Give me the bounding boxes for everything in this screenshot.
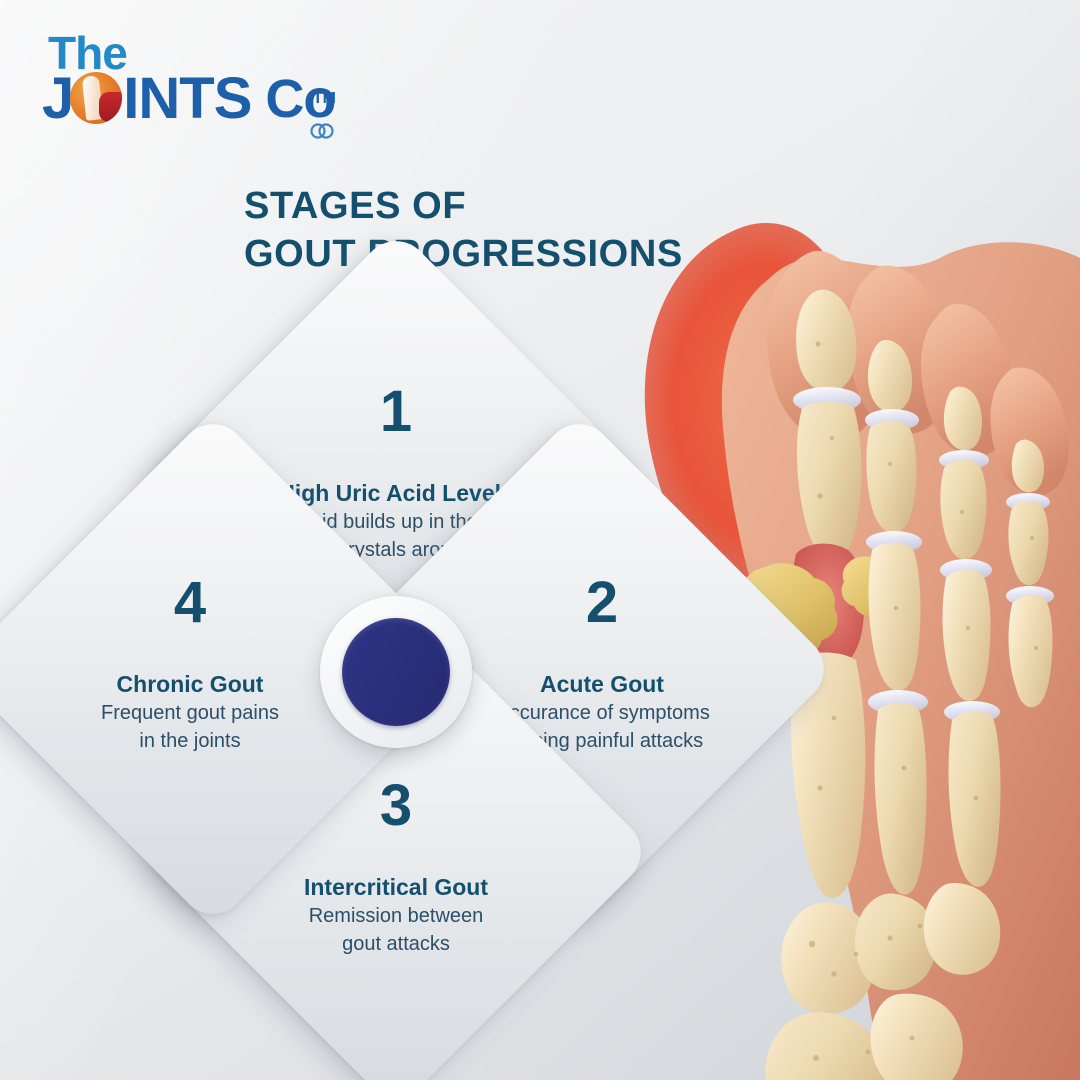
title-line-2: GOUT PROGRESSIONS <box>244 230 764 278</box>
page-title: STAGES OF GOUT PROGRESSIONS <box>244 182 764 278</box>
center-hub[interactable] <box>320 596 472 748</box>
stage-description-line-2: gout attacks <box>342 931 450 957</box>
stage-title: Intercritical Gout <box>304 873 488 901</box>
brand-logo[interactable]: The J INTS Co TM <box>42 30 342 145</box>
stage-description-line-1: Remission between <box>309 903 484 929</box>
stage-title: Chronic Gout <box>117 670 264 698</box>
knee-joint-icon <box>70 72 122 124</box>
stage-number: 2 <box>586 574 618 632</box>
bone-navicular <box>765 1012 886 1080</box>
stage-number: 4 <box>174 574 206 632</box>
interlocking-circles-icon <box>308 122 336 140</box>
center-hub-dot <box>342 618 450 726</box>
logo-j-letter: J <box>42 72 72 126</box>
stage-description-line-2: in the joints <box>139 728 240 754</box>
trademark-symbol: TM <box>313 90 336 108</box>
bone-cuneiform-2 <box>855 894 936 991</box>
stage-number: 1 <box>380 383 412 441</box>
title-line-1: STAGES OF <box>244 185 466 227</box>
logo-ints-text: INTS <box>123 72 251 126</box>
stage-description-line-1: Frequent gout pains <box>101 700 279 726</box>
